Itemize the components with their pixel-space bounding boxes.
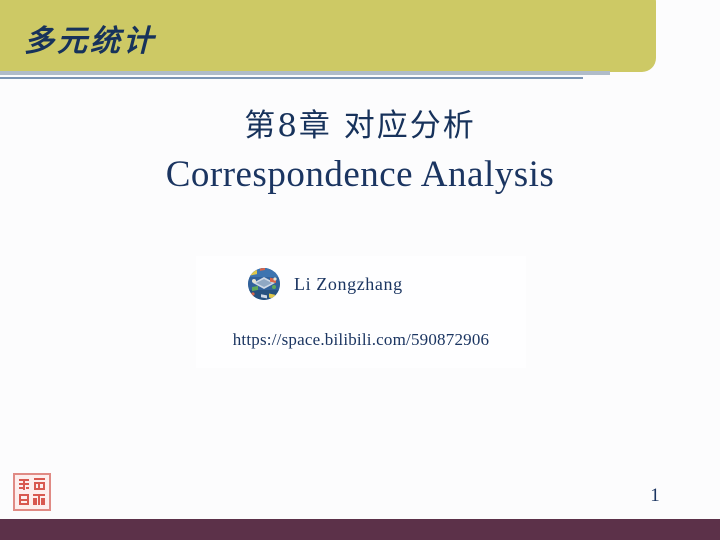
divider-rule-thick [0, 71, 610, 75]
page-number: 1 [630, 485, 680, 507]
user-avatar-isometric-illustration-icon [248, 268, 280, 300]
author-name: Li Zongzhang [294, 274, 403, 295]
page-title-english: Correspondence Analysis [0, 153, 720, 196]
slide-header-title: 多元统计 [24, 16, 156, 60]
page-title-chinese: 第8章 对应分析 [0, 100, 720, 145]
divider-rule-thin [0, 77, 583, 79]
author-profile-link[interactable]: https://space.bilibili.com/590872906 [196, 330, 526, 350]
footer-bar [0, 519, 720, 540]
author-row: Li Zongzhang [248, 268, 403, 300]
slide-canvas: 多元统计 第8章 对应分析 Correspondence Analysis [0, 0, 720, 540]
red-chinese-seal-stamp-icon [13, 473, 51, 511]
author-block: Li Zongzhang https://space.bilibili.com/… [196, 256, 526, 368]
